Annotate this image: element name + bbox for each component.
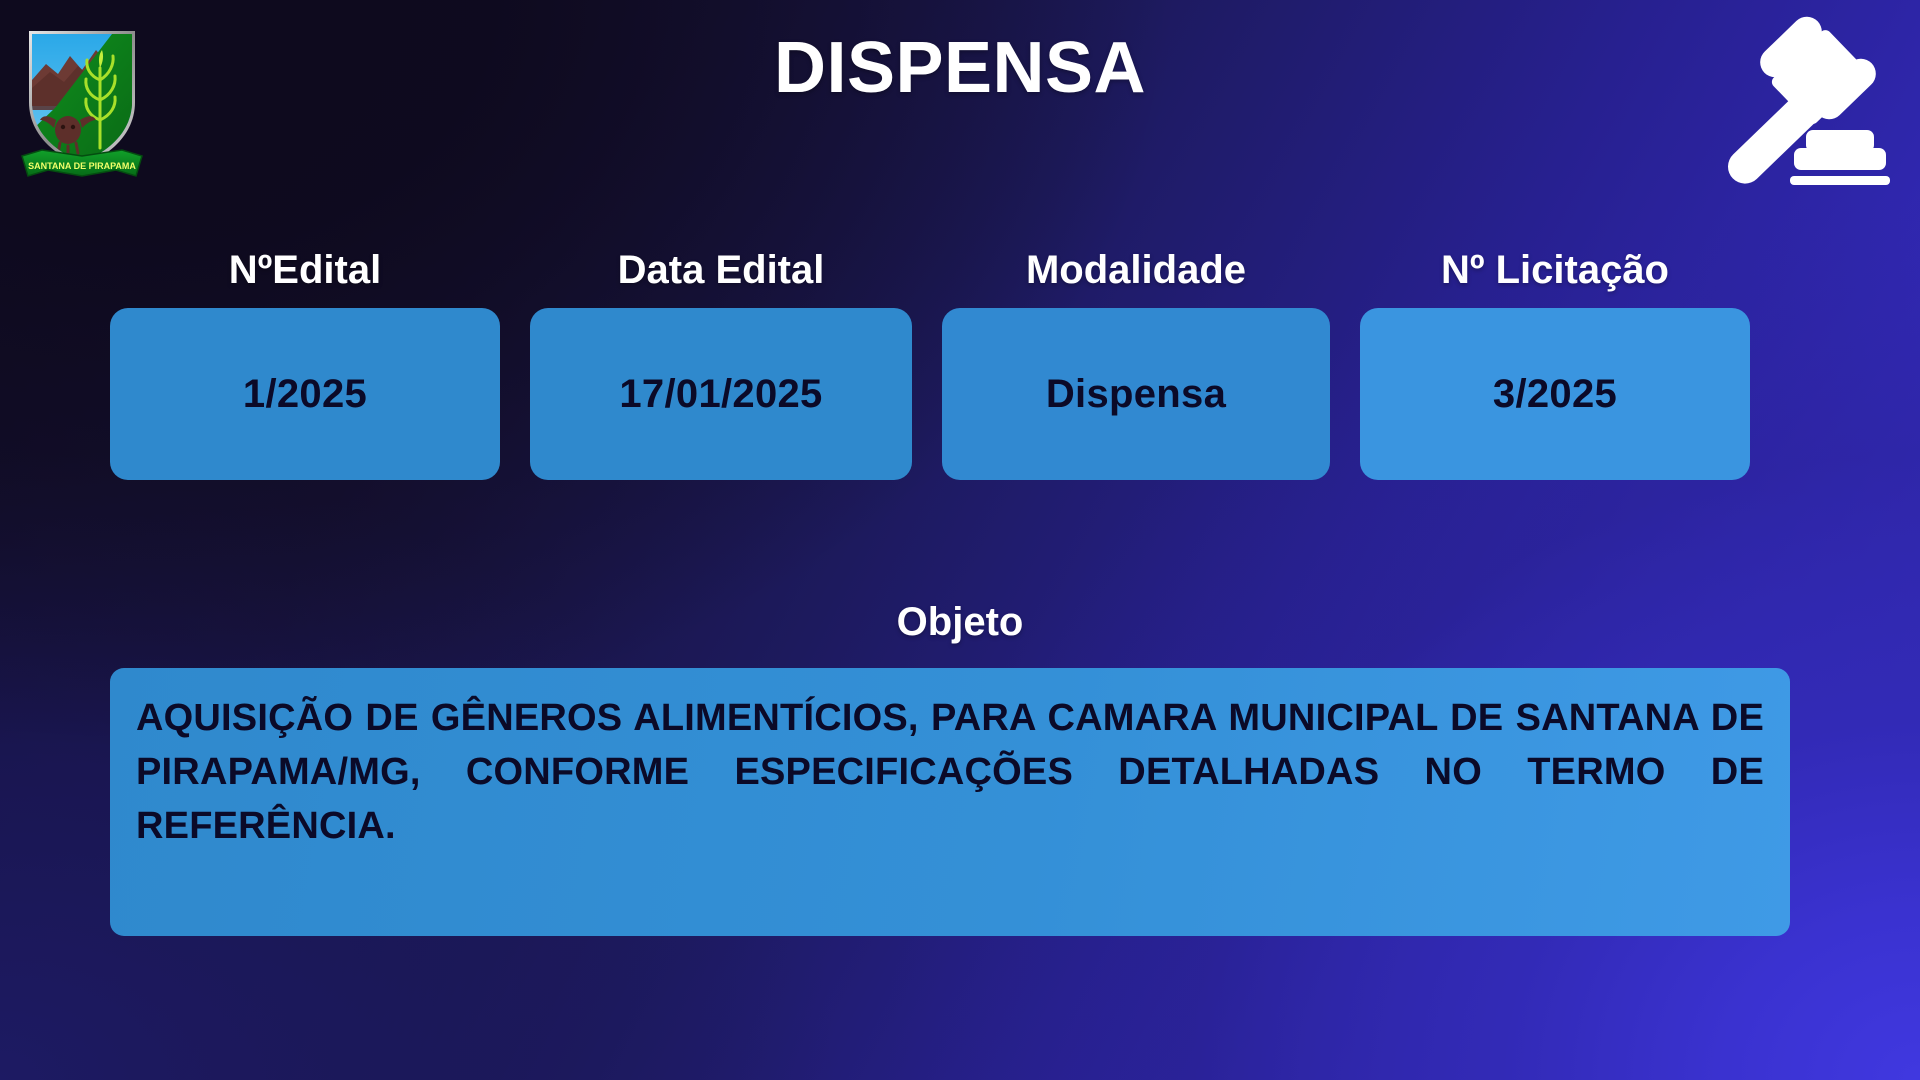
dispensa-banner: SANTANA DE PIRAPAMA DISPEN (0, 0, 1920, 1080)
field-value-card[interactable]: 17/01/2025 (530, 308, 912, 480)
field-value-card[interactable]: 1/2025 (110, 308, 500, 480)
crest-banner-text: SANTANA DE PIRAPAMA (28, 161, 136, 171)
field-value-card[interactable]: Dispensa (942, 308, 1330, 480)
field-edital-number: NºEdital 1/2025 (110, 248, 500, 480)
page-title: DISPENSA (0, 30, 1920, 108)
objeto-text: AQUISIÇÃO DE GÊNEROS ALIMENTÍCIOS, PARA … (136, 692, 1764, 908)
field-licitacao-number: Nº Licitação 3/2025 (1360, 248, 1750, 480)
field-value-card[interactable]: 3/2025 (1360, 308, 1750, 480)
field-label: NºEdital (110, 248, 500, 292)
field-label: Nº Licitação (1360, 248, 1750, 292)
field-modalidade: Modalidade Dispensa (942, 248, 1330, 480)
field-edital-date: Data Edital 17/01/2025 (530, 248, 912, 480)
objeto-label: Objeto (0, 600, 1920, 644)
objeto-box[interactable]: AQUISIÇÃO DE GÊNEROS ALIMENTÍCIOS, PARA … (110, 668, 1790, 936)
field-label: Data Edital (530, 248, 912, 292)
fields-row: NºEdital 1/2025 Data Edital 17/01/2025 M… (110, 248, 1810, 480)
field-label: Modalidade (942, 248, 1330, 292)
